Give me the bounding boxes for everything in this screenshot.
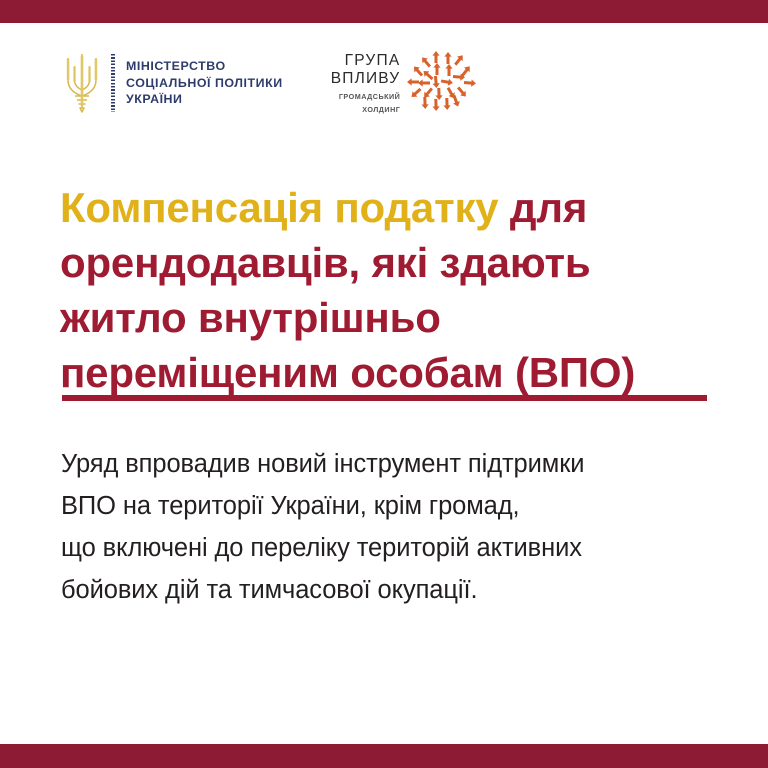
logo-divider-rule	[111, 54, 115, 112]
ministry-logo-text: МІНІСТЕРСТВО СОЦІАЛЬНОЇ ПОЛІТИКИ УКРАЇНИ	[126, 58, 283, 108]
group-sub-2: ХОЛДИНГ	[362, 105, 400, 114]
group-line-2: ВПЛИВУ	[331, 70, 401, 88]
ministry-line-2: СОЦІАЛЬНОЇ ПОЛІТИКИ	[126, 75, 283, 92]
bottom-accent-bar	[0, 744, 768, 768]
ministry-line-1: МІНІСТЕРСТВО	[126, 58, 283, 75]
body-line-4: бойових дій та тимчасової окупації.	[61, 569, 721, 611]
page-title: Компенсація податку для орендодавців, як…	[60, 180, 728, 400]
body-line-2: ВПО на території України, крім громад,	[61, 485, 721, 527]
arrow-cluster-icon	[406, 49, 480, 117]
headline-accent-text: Компенсація податку	[60, 184, 498, 231]
logo-row: МІНІСТЕРСТВО СОЦІАЛЬНОЇ ПОЛІТИКИ УКРАЇНИ…	[62, 46, 480, 120]
body-line-1: Уряд впровадив новий інструмент підтримк…	[61, 443, 721, 485]
body-paragraph: Уряд впровадив новий інструмент підтримк…	[61, 443, 721, 611]
group-sub-1: ГРОМАДСЬКИЙ	[339, 92, 401, 101]
group-logo-text: ГРУПА ВПЛИВУ ГРОМАДСЬКИЙ ХОЛДИНГ	[331, 52, 401, 115]
ministry-line-3: УКРАЇНИ	[126, 91, 283, 108]
group-line-1: ГРУПА	[345, 52, 401, 70]
top-accent-bar	[0, 0, 768, 23]
group-vplyvu-logo: ГРУПА ВПЛИВУ ГРОМАДСЬКИЙ ХОЛДИНГ	[331, 46, 481, 120]
ministry-logo: МІНІСТЕРСТВО СОЦІАЛЬНОЇ ПОЛІТИКИ УКРАЇНИ	[62, 46, 283, 120]
body-line-3: що включені до переліку територій активн…	[61, 527, 721, 569]
section-divider	[62, 395, 707, 401]
ukrainian-trident-emblem	[62, 50, 102, 116]
poster-canvas: МІНІСТЕРСТВО СОЦІАЛЬНОЇ ПОЛІТИКИ УКРАЇНИ…	[0, 0, 768, 768]
